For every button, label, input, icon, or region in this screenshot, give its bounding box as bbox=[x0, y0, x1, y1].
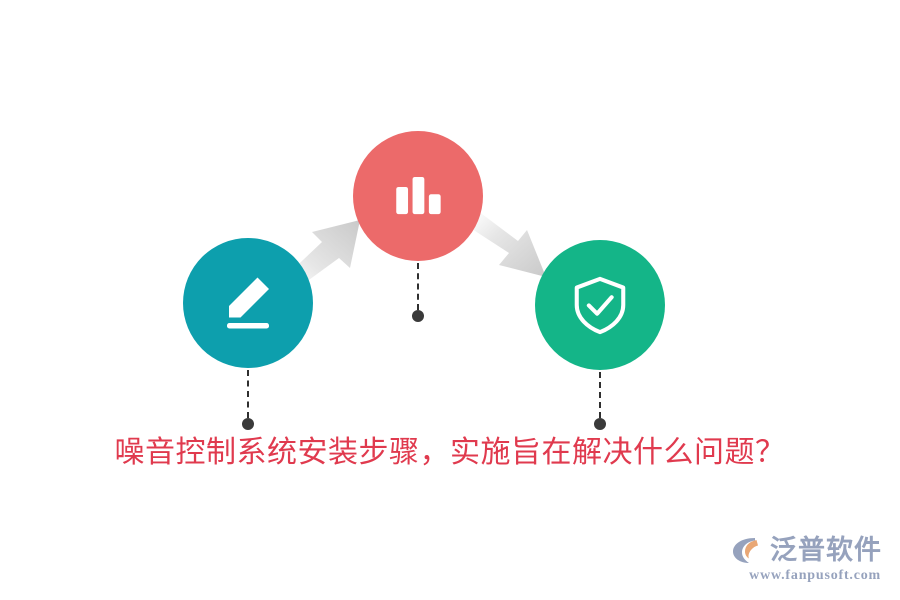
shield-check-icon bbox=[569, 274, 631, 336]
step-circle-edit[interactable] bbox=[183, 238, 313, 368]
bar-chart-icon bbox=[389, 167, 447, 225]
connector-dot bbox=[594, 418, 606, 430]
connector-dot bbox=[412, 310, 424, 322]
step-circle-shield[interactable] bbox=[535, 240, 665, 370]
connector-line bbox=[599, 372, 601, 418]
connector-line bbox=[417, 263, 419, 310]
page-title: 噪音控制系统安装步骤，实施旨在解决什么问题？ bbox=[0, 431, 900, 475]
connector-line bbox=[247, 370, 249, 418]
watermark-url: www.fanpusoft.com bbox=[749, 568, 881, 584]
fanpu-logo-icon bbox=[731, 535, 765, 565]
watermark: 泛普软件 www.fanpusoft.com bbox=[731, 535, 882, 584]
pencil-edit-icon bbox=[216, 271, 280, 335]
infographic-canvas: 噪音控制系统安装步骤，实施旨在解决什么问题？ 泛普软件 www.fanpusof… bbox=[0, 0, 900, 600]
step-circle-chart[interactable] bbox=[353, 131, 483, 261]
connector-dot bbox=[242, 418, 254, 430]
watermark-brand: 泛普软件 bbox=[770, 537, 882, 564]
